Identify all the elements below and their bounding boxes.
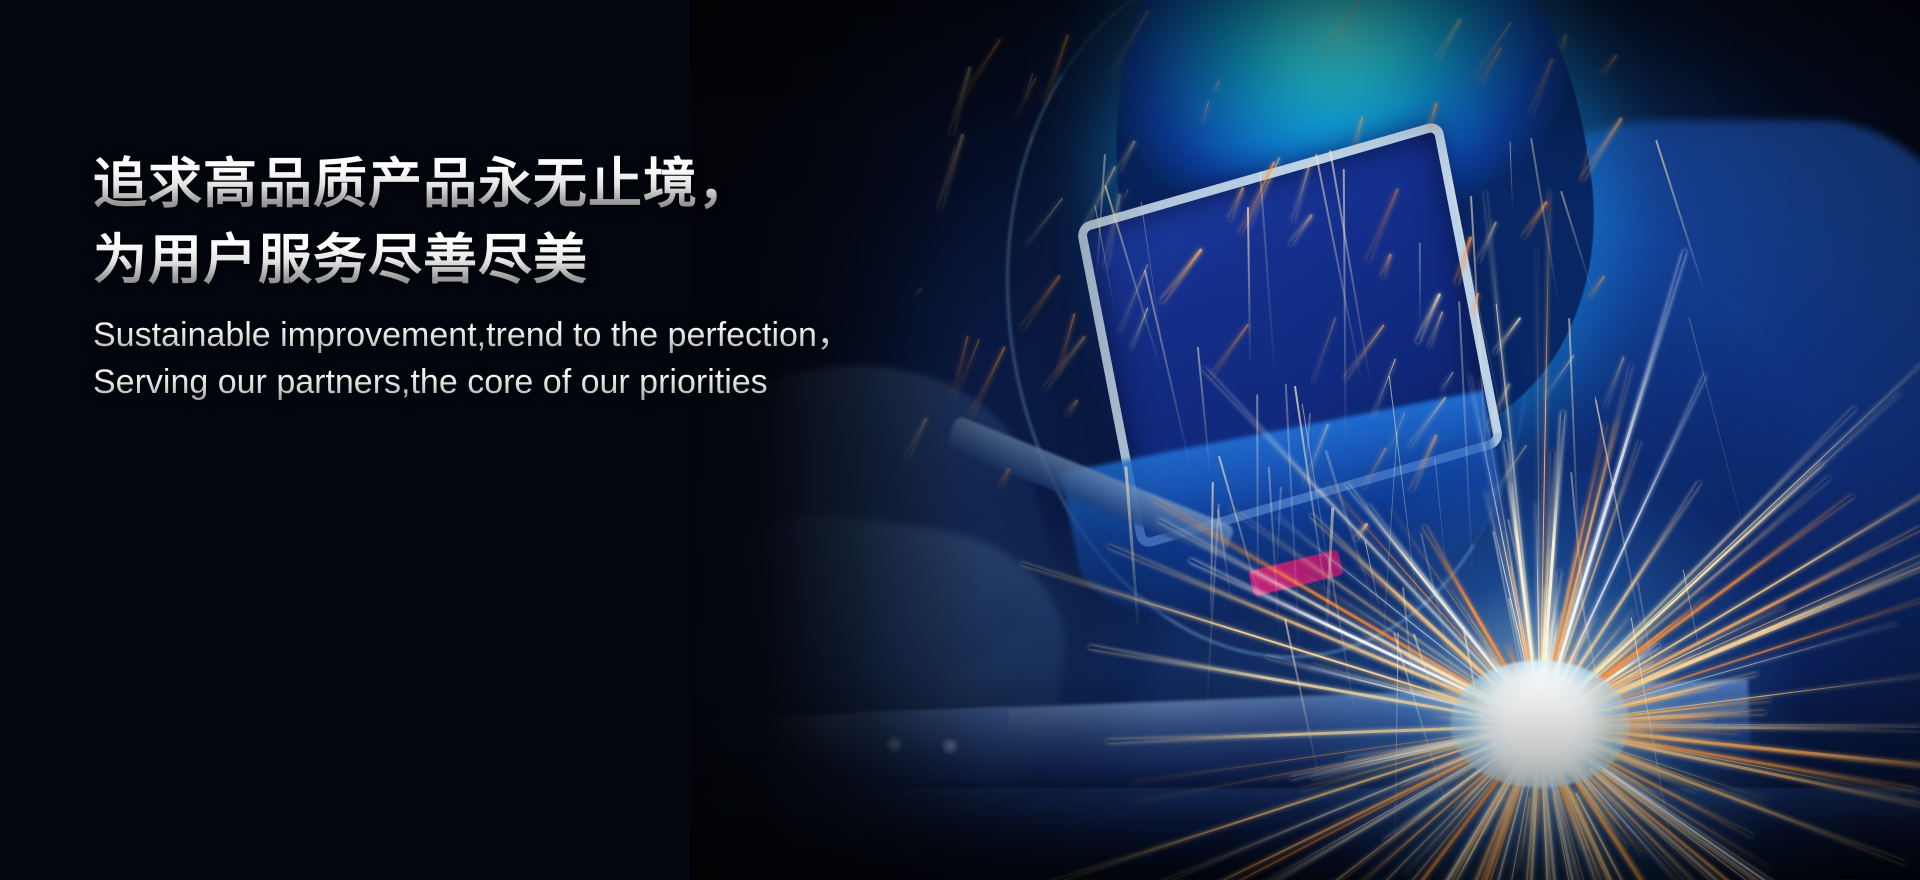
- hero-copy: 追求高品质产品永无止境， 为用户服务尽善尽美 Sustainable impro…: [93, 146, 1073, 406]
- subtitle-line-1: Sustainable improvement,trend to the per…: [93, 312, 1073, 359]
- hero-banner: 追求高品质产品永无止境， 为用户服务尽善尽美 Sustainable impro…: [0, 0, 1920, 880]
- subtitle-group: Sustainable improvement,trend to the per…: [93, 312, 1073, 406]
- subtitle-line-2: Serving our partners,the core of our pri…: [93, 359, 1073, 406]
- welding-photo: [690, 0, 1920, 880]
- headline-line-1: 追求高品质产品永无止境，: [93, 146, 1073, 222]
- photo-vignette: [690, 0, 1920, 880]
- headline-line-2: 为用户服务尽善尽美: [93, 222, 1073, 298]
